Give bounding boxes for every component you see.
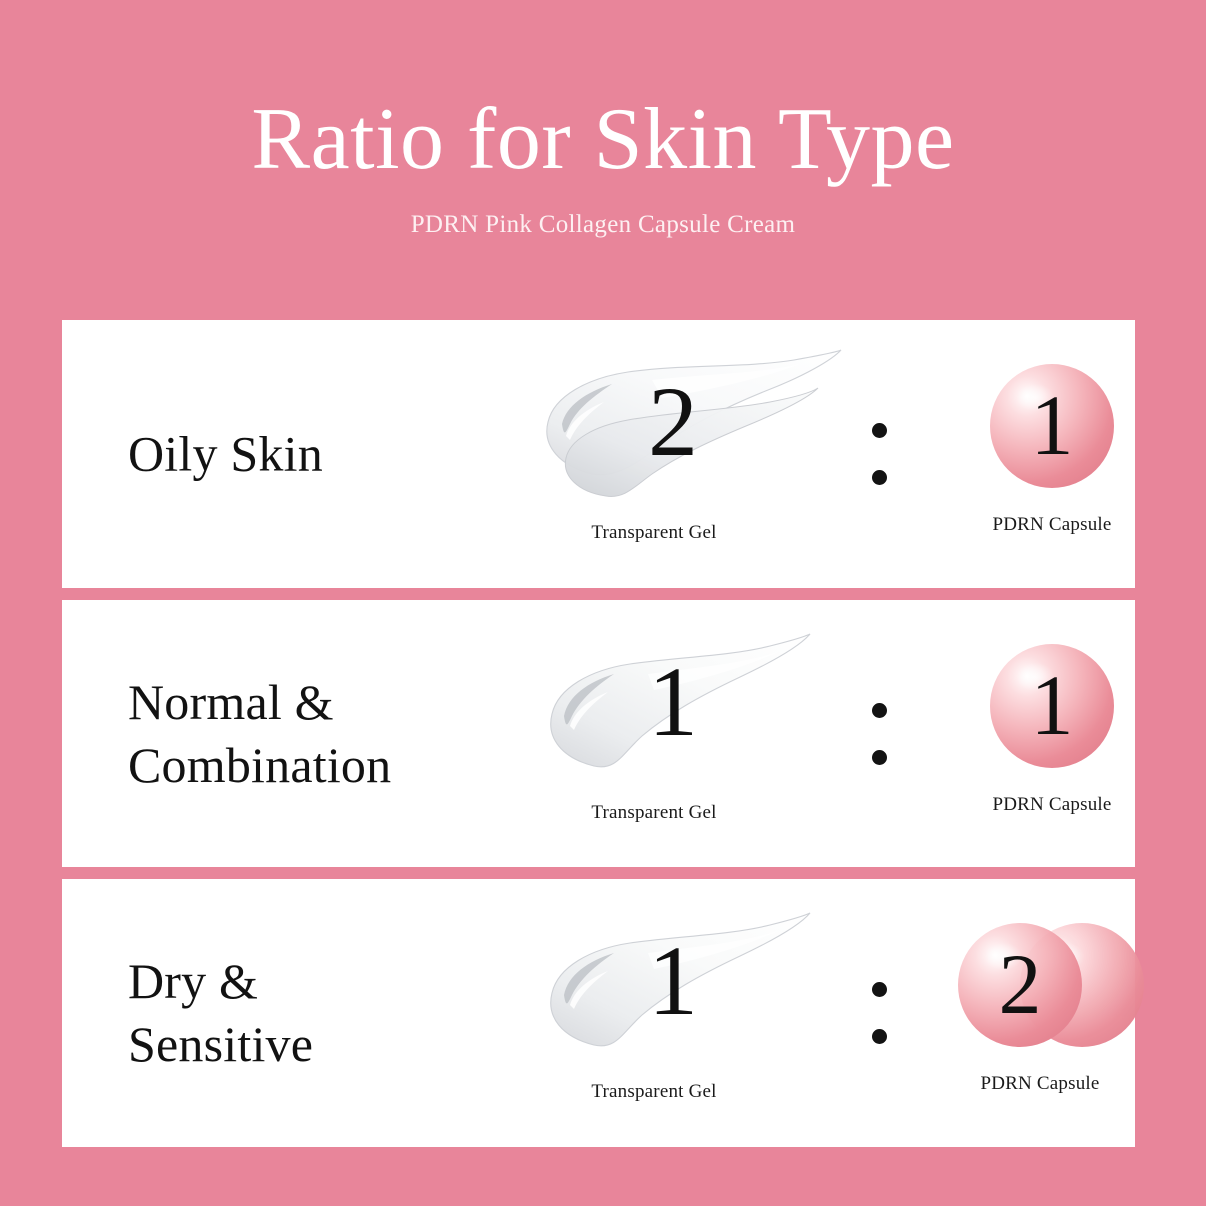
pdrn-capsule-group: 1 PDRN Capsule bbox=[922, 344, 1202, 564]
capsule-caption: PDRN Capsule bbox=[910, 1073, 1170, 1095]
capsule-caption: PDRN Capsule bbox=[922, 794, 1182, 816]
capsule-ratio-number: 2 bbox=[980, 941, 1060, 1027]
capsule-ratio-number: 1 bbox=[1012, 662, 1092, 748]
ratio-row-oily-skin: Oily Skin bbox=[62, 320, 1135, 588]
gel-ratio-number: 1 bbox=[628, 931, 718, 1031]
page-subtitle: PDRN Pink Collagen Capsule Cream bbox=[411, 210, 796, 240]
ratio-colon bbox=[870, 423, 888, 485]
gel-caption: Transparent Gel bbox=[544, 1081, 764, 1103]
capsule-ratio-number: 1 bbox=[1012, 382, 1092, 468]
gel-caption: Transparent Gel bbox=[544, 802, 764, 824]
transparent-gel-group: 2 Transparent Gel bbox=[532, 344, 842, 564]
ratio-colon bbox=[870, 703, 888, 765]
colon-dot-upper bbox=[872, 982, 887, 997]
page-title: Ratio for Skin Type bbox=[251, 96, 954, 184]
infographic-page: Ratio for Skin Type PDRN Pink Collagen C… bbox=[0, 0, 1206, 1206]
pdrn-capsule-group: 1 PDRN Capsule bbox=[922, 624, 1202, 844]
capsule-art bbox=[922, 903, 1202, 1065]
gel-ratio-number: 1 bbox=[628, 652, 718, 752]
colon-dot-upper bbox=[872, 703, 887, 718]
capsule-caption: PDRN Capsule bbox=[922, 514, 1182, 536]
transparent-gel-group: 1 Transparent Gel bbox=[532, 903, 842, 1123]
skin-type-label: Normal & Combination bbox=[128, 671, 528, 797]
colon-dot-lower bbox=[872, 470, 887, 485]
colon-dot-lower bbox=[872, 750, 887, 765]
colon-dot-upper bbox=[872, 423, 887, 438]
transparent-gel-group: 1 Transparent Gel bbox=[532, 624, 842, 844]
ratio-row-normal-combination: Normal & Combination bbox=[62, 600, 1135, 868]
gel-ratio-number: 2 bbox=[628, 372, 718, 472]
header: Ratio for Skin Type PDRN Pink Collagen C… bbox=[0, 0, 1206, 320]
ratio-card-list: Oily Skin bbox=[62, 320, 1135, 1147]
gel-caption: Transparent Gel bbox=[544, 522, 764, 544]
colon-dot-lower bbox=[872, 1029, 887, 1044]
skin-type-label: Dry & Sensitive bbox=[128, 950, 528, 1076]
skin-type-label: Oily Skin bbox=[128, 422, 528, 485]
ratio-row-dry-sensitive: Dry & Sensitive bbox=[62, 879, 1135, 1147]
pdrn-capsule-group: 2 PDRN Capsule bbox=[922, 903, 1202, 1123]
ratio-colon bbox=[870, 982, 888, 1044]
